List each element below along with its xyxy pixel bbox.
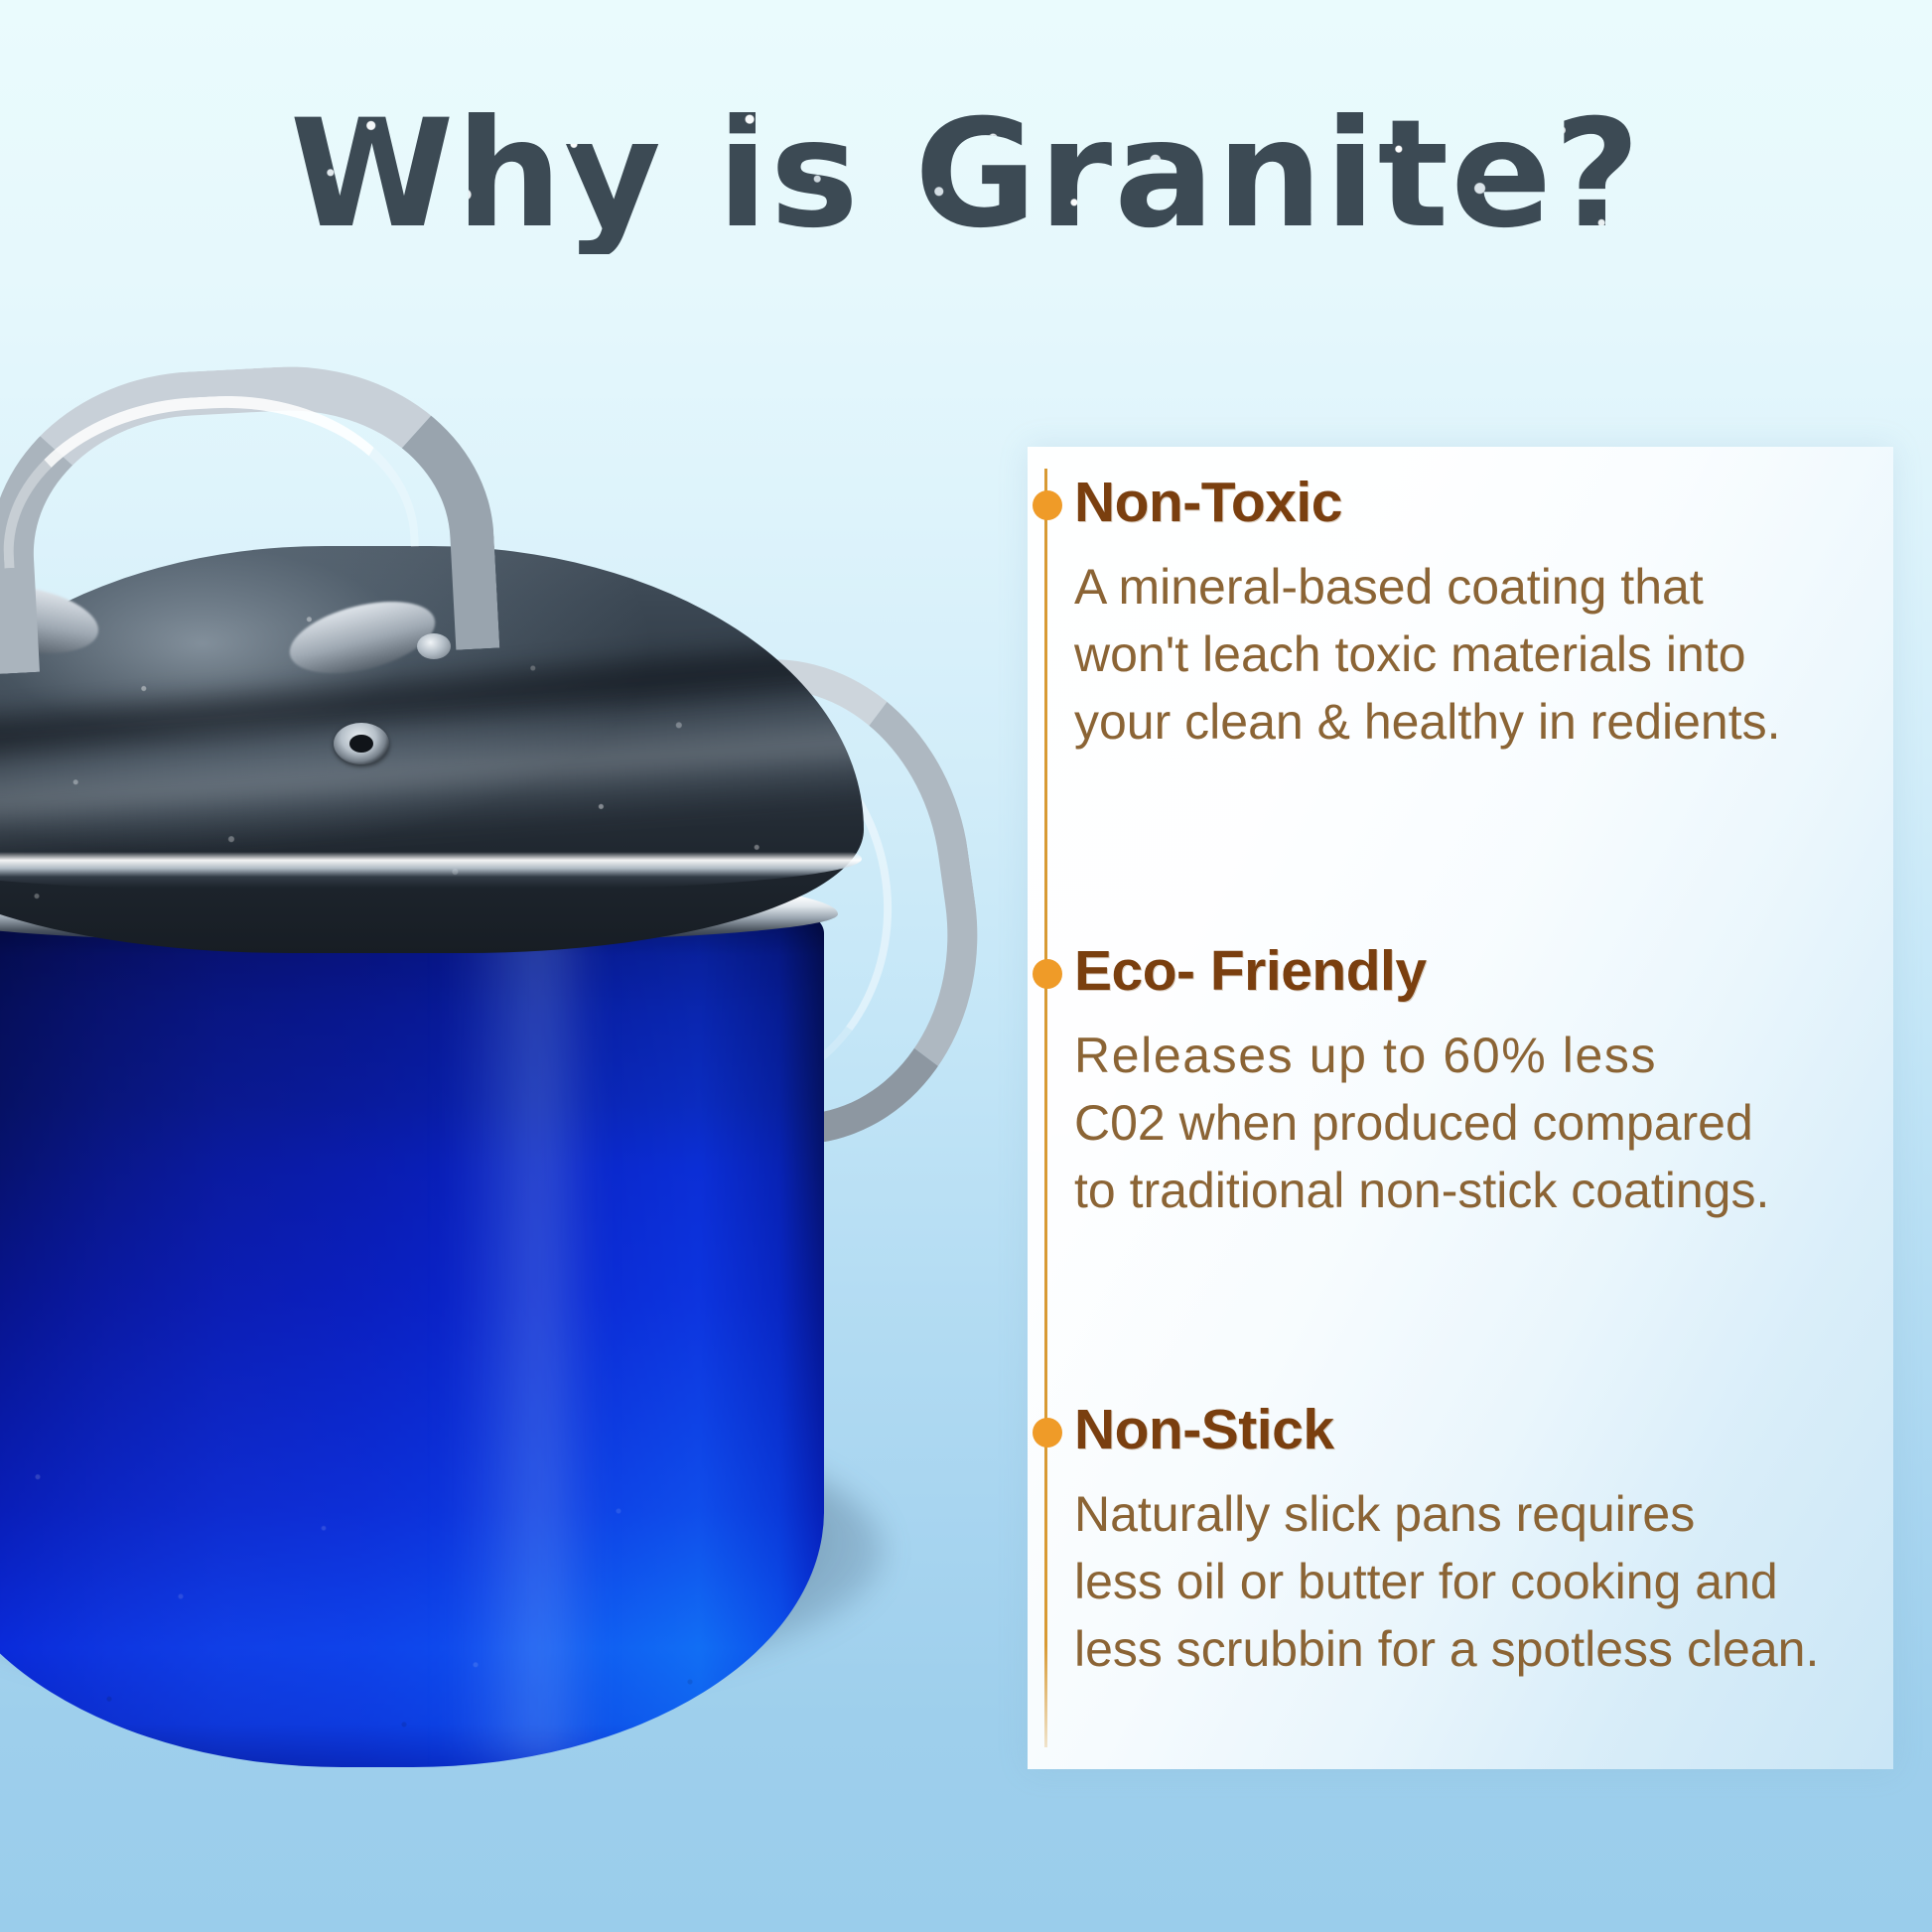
feature-line: less oil or butter for cooking and <box>1074 1548 1859 1615</box>
pot-speckle-texture <box>0 913 824 1767</box>
pot-body <box>0 913 824 1767</box>
lid-steam-vent-icon <box>334 723 389 764</box>
feature-line: to traditional non-stick coatings. <box>1074 1157 1859 1224</box>
page-title: Why is Granite? <box>0 97 1932 254</box>
feature-item-non-toxic: Non-Toxic A mineral-based coating that w… <box>1074 475 1859 756</box>
feature-item-non-stick: Non-Stick Naturally slick pans requires … <box>1074 1402 1859 1683</box>
feature-description: Releases up to 60% less C02 when produce… <box>1074 1022 1859 1224</box>
lid-handle-rivet-icon <box>417 633 451 659</box>
feature-heading: Eco- Friendly <box>1074 943 1859 1000</box>
feature-description: Naturally slick pans requires less oil o… <box>1074 1480 1859 1683</box>
feature-line: Releases up to 60% less <box>1074 1022 1859 1089</box>
feature-heading: Non-Stick <box>1074 1402 1859 1458</box>
feature-line: less scrubbin for a spotless clean. <box>1074 1615 1859 1683</box>
bullet-dot-icon <box>1033 490 1062 520</box>
feature-line: your clean & healthy in redients. <box>1074 688 1859 756</box>
feature-line: A mineral-based coating that <box>1074 553 1859 621</box>
bullet-dot-icon <box>1033 1418 1062 1448</box>
feature-line: C02 when produced compared <box>1074 1089 1859 1157</box>
feature-description: A mineral-based coating that won't leach… <box>1074 553 1859 756</box>
feature-item-eco-friendly: Eco- Friendly Releases up to 60% less C0… <box>1074 943 1859 1224</box>
infographic-canvas: Why is Granite? Non-Toxic A mineral-b <box>0 0 1932 1932</box>
title-text: Why is Granite? <box>290 97 1642 254</box>
lid-arch-handle-icon <box>0 356 499 674</box>
product-image-stock-pot <box>0 357 933 1777</box>
timeline-connector-line <box>1044 469 1047 1747</box>
features-panel: Non-Toxic A mineral-based coating that w… <box>1028 447 1893 1769</box>
bullet-dot-icon <box>1033 959 1062 989</box>
feature-line: Naturally slick pans requires <box>1074 1480 1859 1548</box>
feature-heading: Non-Toxic <box>1074 475 1859 531</box>
feature-line: won't leach toxic materials into <box>1074 621 1859 688</box>
